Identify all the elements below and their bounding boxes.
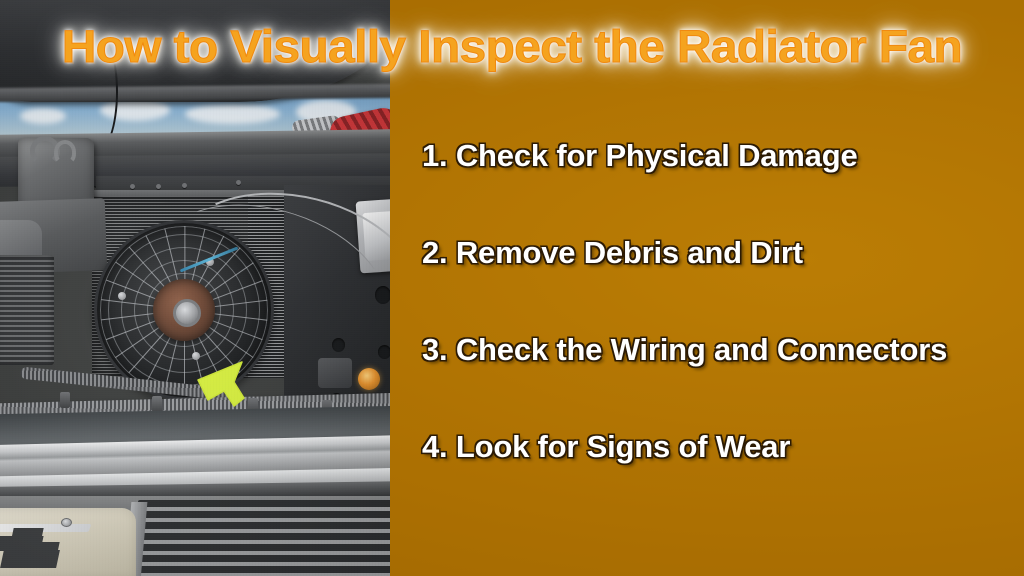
- step-list: 1. Check for Physical Damage 2. Remove D…: [422, 140, 1022, 462]
- grille-slats: [138, 500, 390, 576]
- emblem-screw: [61, 518, 72, 527]
- step-item-2: 2. Remove Debris and Dirt: [422, 237, 1022, 268]
- chevrolet-bowtie-emblem: [0, 528, 86, 568]
- harness-clip: [60, 392, 70, 408]
- step-item-3: 3. Check the Wiring and Connectors: [422, 334, 1022, 365]
- yellow-pointer-arrow: [196, 358, 256, 416]
- bolt: [130, 184, 135, 189]
- bolt: [156, 184, 161, 189]
- engine-bay-photo: [0, 0, 390, 576]
- step-item-1: 1. Check for Physical Damage: [422, 140, 1022, 171]
- harness-clip: [152, 396, 162, 412]
- amber-turn-signal-bulb: [358, 368, 380, 390]
- page-title: How to Visually Inspect the Radiator Fan: [0, 24, 1024, 69]
- cloud: [20, 108, 66, 124]
- bolt: [182, 183, 187, 188]
- transmission-cooler: [0, 255, 54, 365]
- hood-latch-hook: [54, 140, 76, 164]
- bolt: [236, 180, 241, 185]
- step-item-4: 4. Look for Signs of Wear: [422, 431, 1022, 462]
- fan-screw: [118, 292, 126, 300]
- thumbnail-canvas: How to Visually Inspect the Radiator Fan…: [0, 0, 1024, 576]
